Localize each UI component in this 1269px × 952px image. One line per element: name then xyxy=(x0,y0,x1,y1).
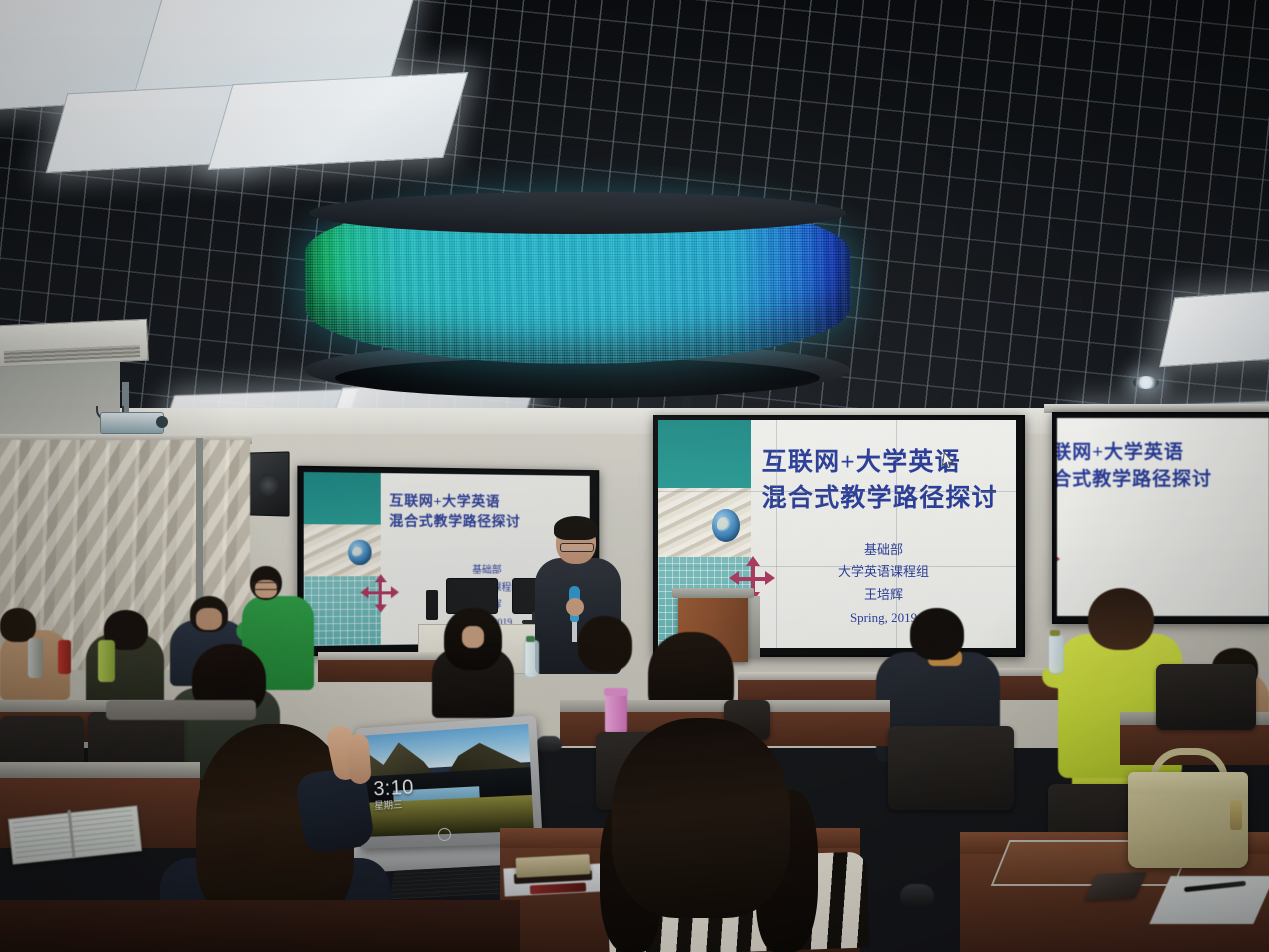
attendee-head xyxy=(578,616,632,672)
led-ring-top-rim xyxy=(309,192,846,234)
podium-side-panel xyxy=(748,596,760,658)
slide-byline-0: 基础部 xyxy=(751,539,1016,562)
slide-teal-block xyxy=(304,472,381,525)
presenter-hand xyxy=(566,598,584,616)
pink-tumbler xyxy=(605,692,627,734)
lock-screen-date: 星期三 xyxy=(374,797,403,813)
slide-teal-block xyxy=(658,420,751,488)
lectern-top xyxy=(672,588,754,598)
tumbler-lid xyxy=(604,688,628,696)
computer-mouse xyxy=(536,736,562,752)
move-handle-arrow-up xyxy=(374,574,386,582)
slide-byline-2: 王培辉 xyxy=(751,584,1016,607)
move-handle-overlay[interactable] xyxy=(1057,541,1058,577)
move-handle-arrow-down xyxy=(374,604,386,612)
move-handle-arrow-up xyxy=(746,556,760,566)
pointer-cursor-icon xyxy=(940,451,956,473)
thermos xyxy=(28,638,43,678)
computer-tower xyxy=(426,590,438,620)
move-handle-arrow-left xyxy=(360,586,368,598)
slide-byline-3: Spring, 2019 xyxy=(751,607,1016,630)
slide-title: 互联网+大学英语 混合式教学路径探讨 xyxy=(762,445,1011,516)
move-handle-arrow-right xyxy=(765,571,775,585)
slide-title: 互联网+大学英语 混合式教学路径探讨 xyxy=(1057,440,1269,494)
ceiling-light-panel xyxy=(1159,287,1269,367)
led-ring-inner-void xyxy=(335,358,820,398)
glasses-icon xyxy=(252,582,278,590)
slide-keyboard-photo xyxy=(658,488,751,556)
water-bottle xyxy=(1048,634,1064,674)
attendee-hair xyxy=(1088,588,1154,650)
foreground-desk-shadow xyxy=(0,900,520,952)
move-handle-horizontal-arm xyxy=(366,591,393,594)
attendee-head xyxy=(910,608,964,660)
slide-right: 互联网+大学英语 混合式教学路径探讨 xyxy=(1057,418,1269,616)
slide-byline: 基础部 大学英语课程组 王培辉 Spring, 2019 xyxy=(751,539,1016,630)
slide-left-column xyxy=(304,472,381,646)
chair-back-rail xyxy=(106,700,256,720)
bottle-cap xyxy=(1050,630,1060,636)
slide-byline-1: 大学英语课程组 xyxy=(751,561,1016,584)
slide-body: 互联网+大学英语 混合式教学路径探讨 xyxy=(1057,418,1269,616)
move-handle-overlay[interactable] xyxy=(363,576,398,611)
foreground-attendee-hand xyxy=(346,733,371,784)
paper-sheet xyxy=(1149,876,1269,924)
foreground-attendee-hair xyxy=(612,718,790,918)
handbag-clasp xyxy=(1230,800,1242,830)
slide-title-line2: 混合式教学路径探讨 xyxy=(762,481,1011,517)
bottle-cap xyxy=(526,636,535,642)
screen-seam-horizontal xyxy=(658,491,1016,492)
slide-body: 互联网+大学英语 混合式教学路径探讨 基础部 大学英语课程组 王培辉 Sprin… xyxy=(751,420,1016,648)
right-projection-screen: 互联网+大学英语 混合式教学路径探讨 xyxy=(1057,418,1269,616)
water-bottle xyxy=(524,640,539,678)
move-handle-arrow-right xyxy=(390,586,398,598)
screen-seam-vertical xyxy=(776,420,777,648)
laptop-lock-screen[interactable]: 3:10 星期三 xyxy=(361,724,534,837)
beverage-can xyxy=(58,640,71,674)
slide-title-line1: 互联网+大学英语 xyxy=(762,445,1011,481)
move-handle-arrow-left xyxy=(729,571,739,585)
slide-title-line2: 混合式教学路径探讨 xyxy=(1057,467,1269,494)
desk-surface xyxy=(0,762,200,778)
ceiling-led-ring-display xyxy=(305,196,850,401)
slide-title-line1: 互联网+大学英语 xyxy=(1057,440,1269,467)
screen-seam-horizontal xyxy=(658,566,1016,567)
globe-icon xyxy=(349,540,372,565)
speaker-cone-icon xyxy=(258,474,278,496)
chair xyxy=(888,726,1014,810)
globe-icon xyxy=(712,509,740,542)
handbag-flap xyxy=(1128,772,1248,794)
thermos xyxy=(98,640,115,682)
ceiling-light-panel xyxy=(208,72,469,170)
slide-keyboard-photo xyxy=(304,524,381,576)
attendee-face xyxy=(196,608,222,630)
projector-lens-icon xyxy=(156,416,168,428)
computer-mouse xyxy=(900,884,934,906)
lecture-hall-photo: 互联网+大学英语 混合式教学路径探讨 基础部 大学英语课程组 王培辉 Sprin… xyxy=(0,0,1269,952)
notebook-stack xyxy=(516,854,591,878)
move-handle-arrow-right xyxy=(1057,552,1060,566)
attendee-head xyxy=(0,608,36,642)
chair xyxy=(1156,664,1256,730)
ceiling-projector xyxy=(100,412,164,434)
presenter-hair xyxy=(554,516,598,540)
glasses-icon xyxy=(560,543,594,552)
slide-title-line1: 互联网+大学英语 xyxy=(389,492,585,514)
attendee-neck xyxy=(462,626,484,648)
recessed-downlight xyxy=(1133,376,1159,389)
screen-seam-vertical xyxy=(896,420,897,648)
